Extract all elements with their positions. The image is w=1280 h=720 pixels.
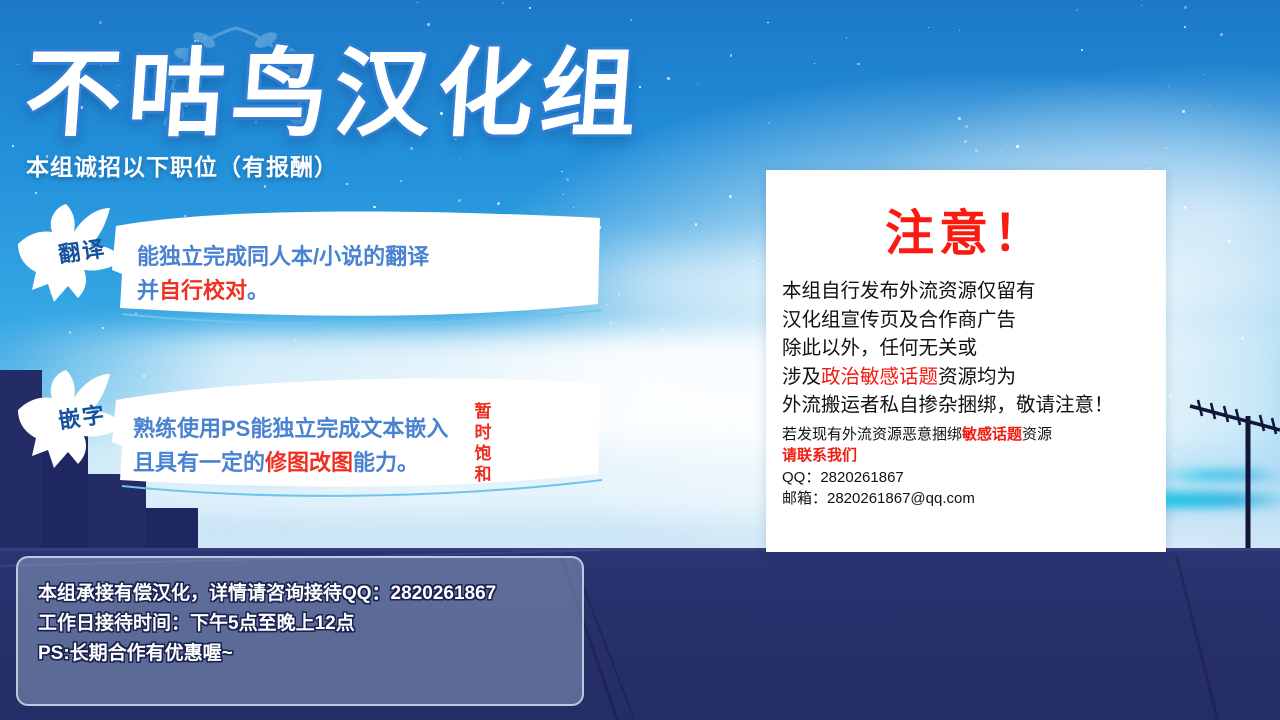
email-line[interactable]: 邮箱：2820261867@qq.com — [782, 488, 1166, 510]
notice-line: 汉化组宣传页及合作商广告 — [782, 306, 1166, 335]
notice-line-pre: 外流搬运者私自掺杂捆绑，敬请注意！ — [782, 394, 1114, 416]
page-title: 不咕鸟汉化组 — [21, 16, 649, 155]
notice-contact: 若发现有外流资源恶意捆绑敏感话题资源 请联系我们 QQ：2820261867 邮… — [782, 424, 1166, 510]
role-line-2-pre: 并 — [137, 278, 159, 303]
role-line-2: 并自行校对。 — [137, 274, 269, 308]
notice-line-post: 资源均为 — [938, 366, 1016, 388]
footer-info-panel: 本组承接有偿汉化，详情请咨询接待QQ：2820261867 工作日接待时间：下午… — [16, 556, 584, 706]
footer-line-1: 本组承接有偿汉化，详情请咨询接待QQ：2820261867 — [38, 578, 496, 605]
footer-line-3: PS:长期合作有优惠喔~ — [38, 638, 233, 665]
notice-line-pre: 汉化组宣传页及合作商广告 — [782, 309, 1016, 331]
notice-box: 注意！ 本组自行发布外流资源仅留有 汉化组宣传页及合作商广告 除此以外，任何无关… — [766, 170, 1166, 552]
poster-canvas: 不咕鸟汉化组 本组诚招以下职位（有报酬） 能独立完成同人本/小说的翻译 并自行校… — [0, 0, 1280, 720]
role-line-1: 能独立完成同人本/小说的翻译 — [137, 240, 429, 274]
contact-us-label: 请联系我们 — [782, 445, 1166, 467]
dove-badge-translation: 翻译 — [14, 198, 136, 313]
role-status-note: 暂时饱和 — [472, 401, 494, 485]
notice-line-pre: 涉及 — [782, 366, 821, 388]
notice-line: 本组自行发布外流资源仅留有 — [782, 277, 1166, 306]
footer-line-2: 工作日接待时间：下午5点至晚上12点 — [38, 608, 355, 635]
role-line-2-post: 。 — [247, 278, 269, 303]
notice-body: 本组自行发布外流资源仅留有 汉化组宣传页及合作商广告 除此以外，任何无关或 涉及… — [782, 277, 1166, 420]
role2-line-2-pre: 且具有一定的 — [133, 450, 265, 475]
role-line-2-highlight: 自行校对 — [159, 278, 247, 303]
role2-line-2-post: 能力。 — [353, 450, 419, 475]
page-subtitle: 本组诚招以下职位（有报酬） — [26, 148, 338, 182]
dove-badge-typesetting: 嵌字 — [14, 364, 136, 479]
role-line-1-pre: 能独立完成同人本/小说的翻译 — [137, 244, 429, 269]
role2-line-2-highlight: 修图改图 — [265, 450, 353, 475]
notice-small-highlight: 敏感话题 — [962, 426, 1022, 443]
notice-small-pre: 若发现有外流资源恶意捆绑 — [782, 426, 962, 443]
qq-line[interactable]: QQ：2820261867 — [782, 467, 1166, 489]
notice-line-pre: 除此以外，任何无关或 — [782, 337, 977, 359]
notice-line: 外流搬运者私自掺杂捆绑，敬请注意！ — [782, 391, 1166, 420]
notice-line: 涉及政治敏感话题资源均为 — [782, 363, 1166, 392]
role2-line-1-pre: 熟练使用PS能独立完成文本嵌入 — [133, 416, 448, 441]
role2-line-1: 熟练使用PS能独立完成文本嵌入 — [133, 412, 448, 446]
notice-title: 注意！ — [766, 194, 1166, 265]
notice-line: 除此以外，任何无关或 — [782, 334, 1166, 363]
tv-antenna-icon — [1180, 398, 1280, 563]
notice-small-line: 若发现有外流资源恶意捆绑敏感话题资源 — [782, 424, 1166, 446]
notice-line-highlight: 政治敏感话题 — [821, 366, 938, 388]
roof-seam-c — [1175, 555, 1241, 720]
notice-small-post: 资源 — [1022, 426, 1052, 443]
notice-line-pre: 本组自行发布外流资源仅留有 — [782, 280, 1036, 302]
role2-line-2: 且具有一定的修图改图能力。 — [133, 446, 419, 480]
